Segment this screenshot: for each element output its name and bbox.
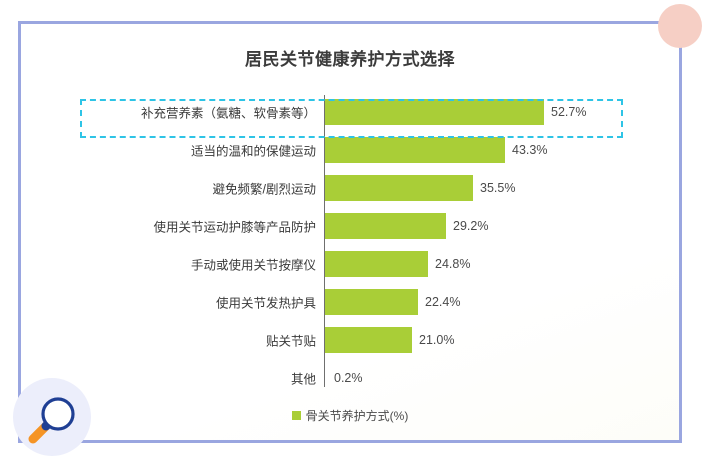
legend-swatch-icon <box>292 411 301 420</box>
bar-value-label: 22.4% <box>425 295 460 309</box>
chart-legend: 骨关节养护方式(%) <box>18 407 682 424</box>
bar-row-label: 避免频繁/剧烈运动 <box>213 179 316 198</box>
bar-row-label: 使用关节运动护膝等产品防护 <box>153 217 316 236</box>
bar-row: 手动或使用关节按摩仪 24.8% <box>18 251 682 277</box>
bar-row-label: 使用关节发热护具 <box>216 293 316 312</box>
legend-label: 骨关节养护方式(%) <box>306 407 409 424</box>
bar-row: 避免频繁/剧烈运动 35.5% <box>18 175 682 201</box>
bar-fill <box>325 251 428 277</box>
bar-row: 使用关节运动护膝等产品防护 29.2% <box>18 213 682 239</box>
bar-row: 适当的温和的保健运动 43.3% <box>18 137 682 163</box>
bar-fill <box>325 175 473 201</box>
bar-chart-plot: 补充营养素（氨糖、软骨素等） 52.7% 适当的温和的保健运动 43.3% 避免… <box>18 95 682 391</box>
magnifier-icon <box>22 388 84 450</box>
bar-row: 贴关节贴 21.0% <box>18 327 682 353</box>
bar-fill <box>325 289 418 315</box>
bar-row-label: 贴关节贴 <box>266 331 316 350</box>
bar-row-label: 手动或使用关节按摩仪 <box>191 255 316 274</box>
corner-circle-decoration <box>658 4 702 48</box>
bar-fill <box>325 327 412 353</box>
bar-value-label: 24.8% <box>435 257 470 271</box>
bar-value-label: 43.3% <box>512 143 547 157</box>
bar-value-label: 29.2% <box>453 219 488 233</box>
bar-value-label: 35.5% <box>480 181 515 195</box>
bar-row-label: 适当的温和的保健运动 <box>191 141 316 160</box>
bar-row-label: 其他 <box>291 369 316 388</box>
bar-row: 使用关节发热护具 22.4% <box>18 289 682 315</box>
bar-row: 其他 0.2% <box>18 365 682 391</box>
bar-fill <box>325 137 505 163</box>
bar-value-label: 0.2% <box>334 371 363 385</box>
bar-fill <box>325 213 446 239</box>
chart-title: 居民关节健康养护方式选择 <box>18 45 682 70</box>
highlight-box-first-row <box>80 99 623 138</box>
bar-value-label: 21.0% <box>419 333 454 347</box>
chart-container: 居民关节健康养护方式选择 补充营养素（氨糖、软骨素等） 52.7% 适当的温和的… <box>18 21 682 443</box>
